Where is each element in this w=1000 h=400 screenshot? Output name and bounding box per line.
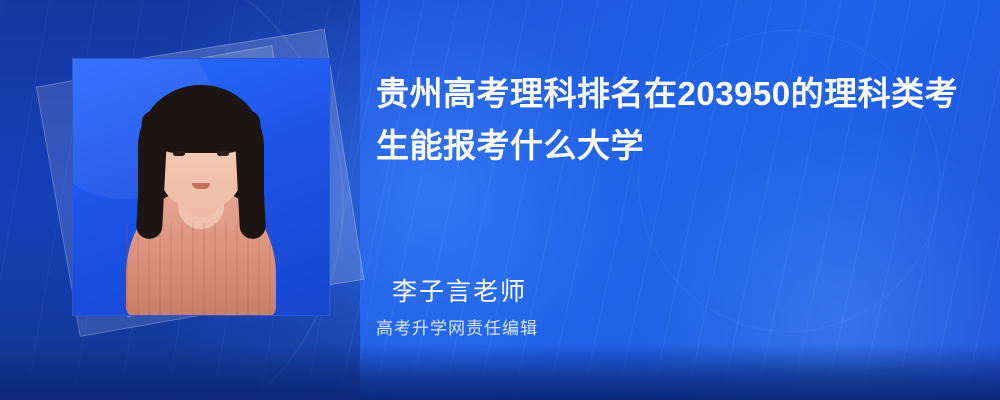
portrait-photo [72, 58, 330, 316]
banner-content: 贵州高考理科排名在203950的理科类考生能报考什么大学 李子言老师 高考升学网… [376, 0, 1000, 400]
banner-headline: 贵州高考理科排名在203950的理科类考生能报考什么大学 [376, 68, 960, 172]
photo-stack [44, 30, 344, 370]
promo-banner: 贵州高考理科排名在203950的理科类考生能报考什么大学 李子言老师 高考升学网… [0, 0, 1000, 400]
portrait-eye-right [217, 151, 229, 156]
portrait-eye-left [173, 151, 185, 156]
author-name: 李子言老师 [392, 272, 527, 308]
author-role: 高考升学网责任编辑 [376, 314, 538, 339]
